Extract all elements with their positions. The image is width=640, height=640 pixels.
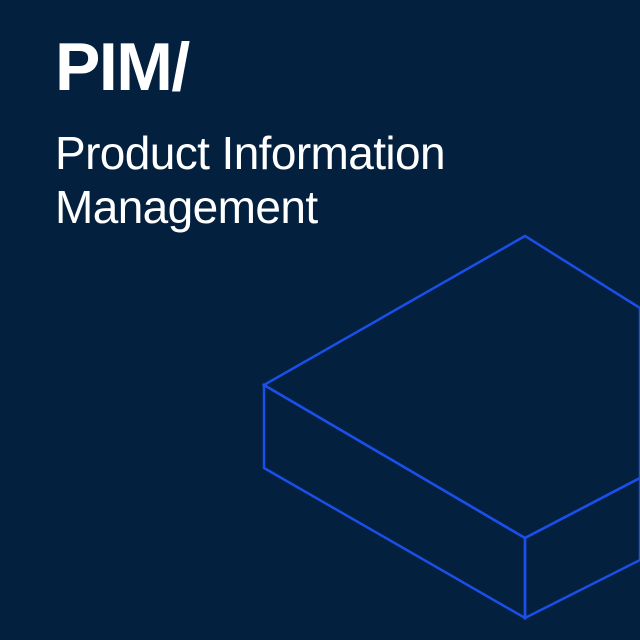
poster-canvas: PIM/ Product Information Management [0,0,640,640]
page-subtitle-line-2: Management [55,180,595,234]
box-left-face [264,385,525,618]
box-right-face [525,478,640,618]
title-block: PIM/ Product Information Management [55,30,595,234]
box-top-face [264,236,640,538]
page-subtitle: Product Information Management [55,126,595,234]
page-title: PIM/ [55,30,595,104]
page-subtitle-line-1: Product Information [55,126,595,180]
